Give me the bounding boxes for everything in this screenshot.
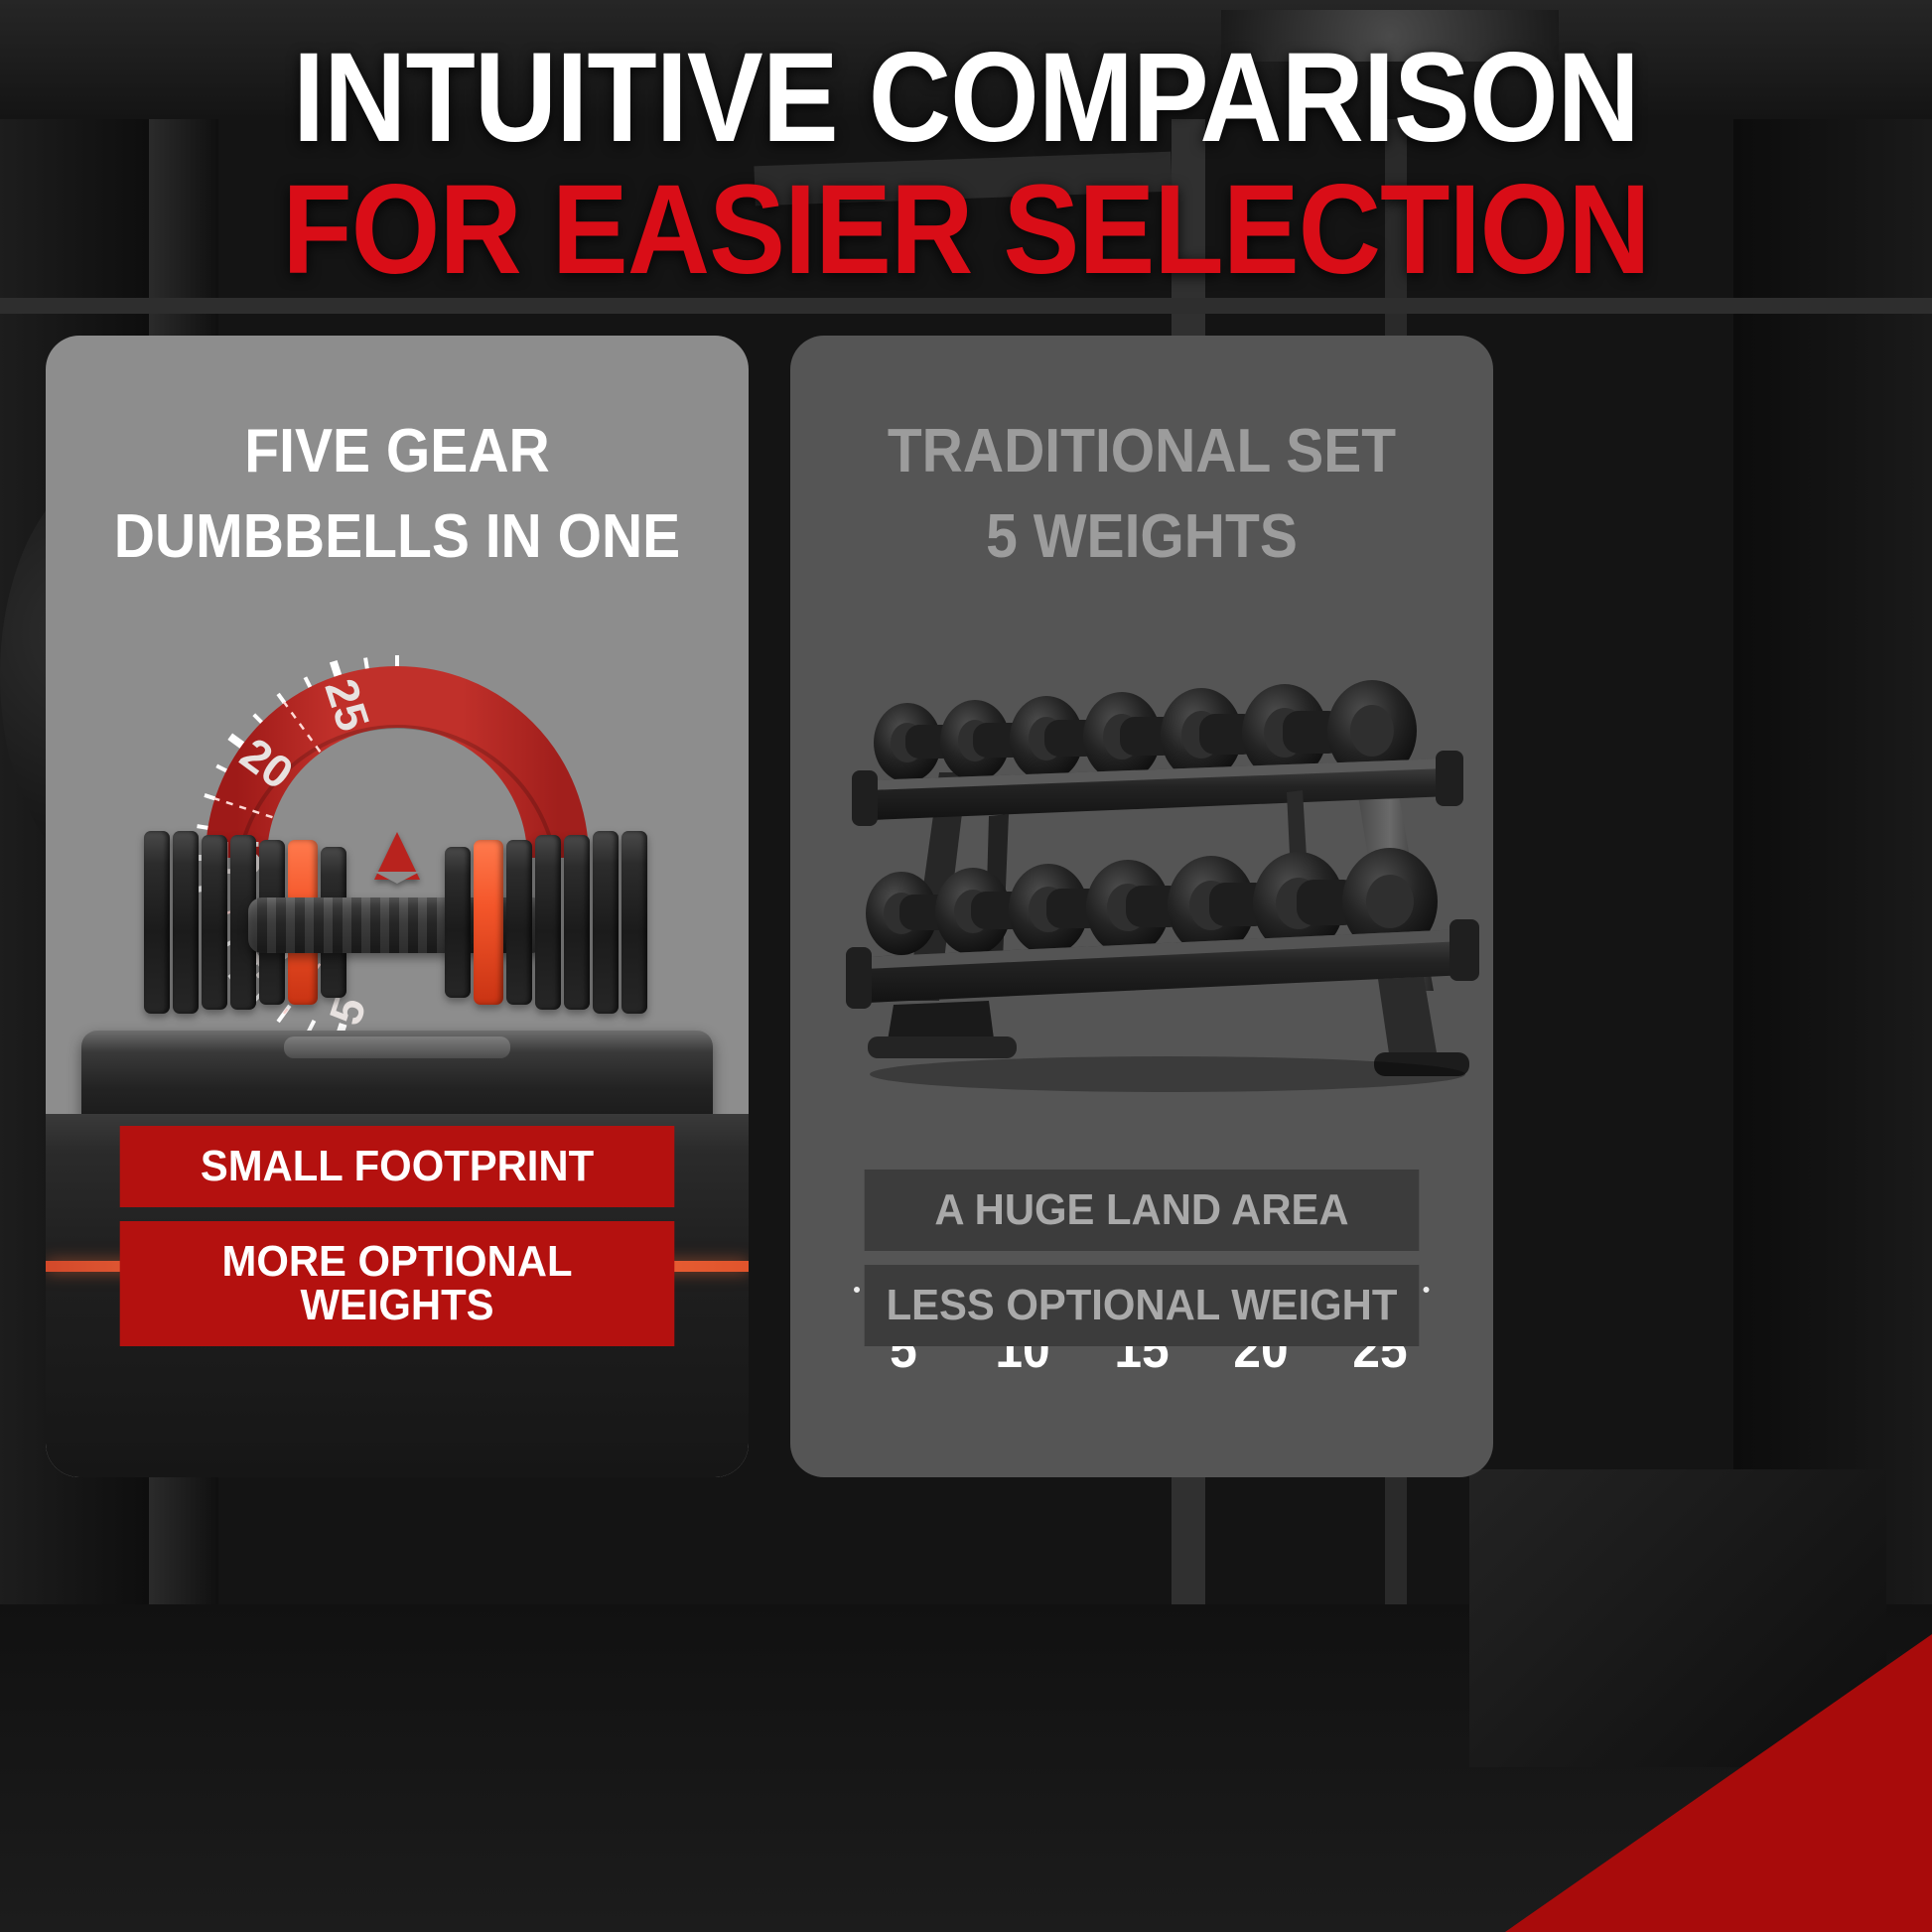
badge-less-optional-weight: LESS OPTIONAL WEIGHT xyxy=(865,1265,1420,1346)
headline-line-2: FOR EASIER SELECTION xyxy=(96,164,1835,297)
headline-line-1: INTUITIVE COMPARISON xyxy=(96,34,1835,164)
badge-small-footprint: SMALL FOOTPRINT xyxy=(120,1126,675,1207)
comparison-panel-traditional-set: TRADITIONAL SET 5 WEIGHTS xyxy=(790,336,1493,1477)
right-panel-title-line-2: 5 WEIGHTS xyxy=(818,494,1464,580)
right-panel-badges: A HUGE LAND AREA LESS OPTIONAL WEIGHT xyxy=(790,1170,1493,1360)
dumbbell-plate-stack-right xyxy=(445,828,693,1017)
left-panel-title: FIVE GEAR DUMBBELLS IN ONE xyxy=(73,409,720,579)
dumbbell-rack-illustration xyxy=(790,663,1493,1219)
adjustable-dumbbell-illustration xyxy=(46,802,749,1060)
page-headline: INTUITIVE COMPARISON FOR EASIER SELECTIO… xyxy=(0,34,1932,297)
left-panel-title-line-2: DUMBBELLS IN ONE xyxy=(73,494,720,580)
right-panel-title-line-1: TRADITIONAL SET xyxy=(818,409,1464,494)
dumbbell-tray xyxy=(81,1031,713,1126)
left-panel-title-line-1: FIVE GEAR xyxy=(73,409,720,494)
left-panel-badges: SMALL FOOTPRINT MORE OPTIONAL WEIGHTS xyxy=(46,1126,749,1360)
badge-huge-land-area: A HUGE LAND AREA xyxy=(865,1170,1420,1251)
right-panel-title: TRADITIONAL SET 5 WEIGHTS xyxy=(818,409,1464,579)
comparison-panel-adjustable-dumbbell: FIVE GEAR DUMBBELLS IN ONE xyxy=(46,336,749,1477)
badge-more-optional-weights: MORE OPTIONAL WEIGHTS xyxy=(120,1221,675,1346)
